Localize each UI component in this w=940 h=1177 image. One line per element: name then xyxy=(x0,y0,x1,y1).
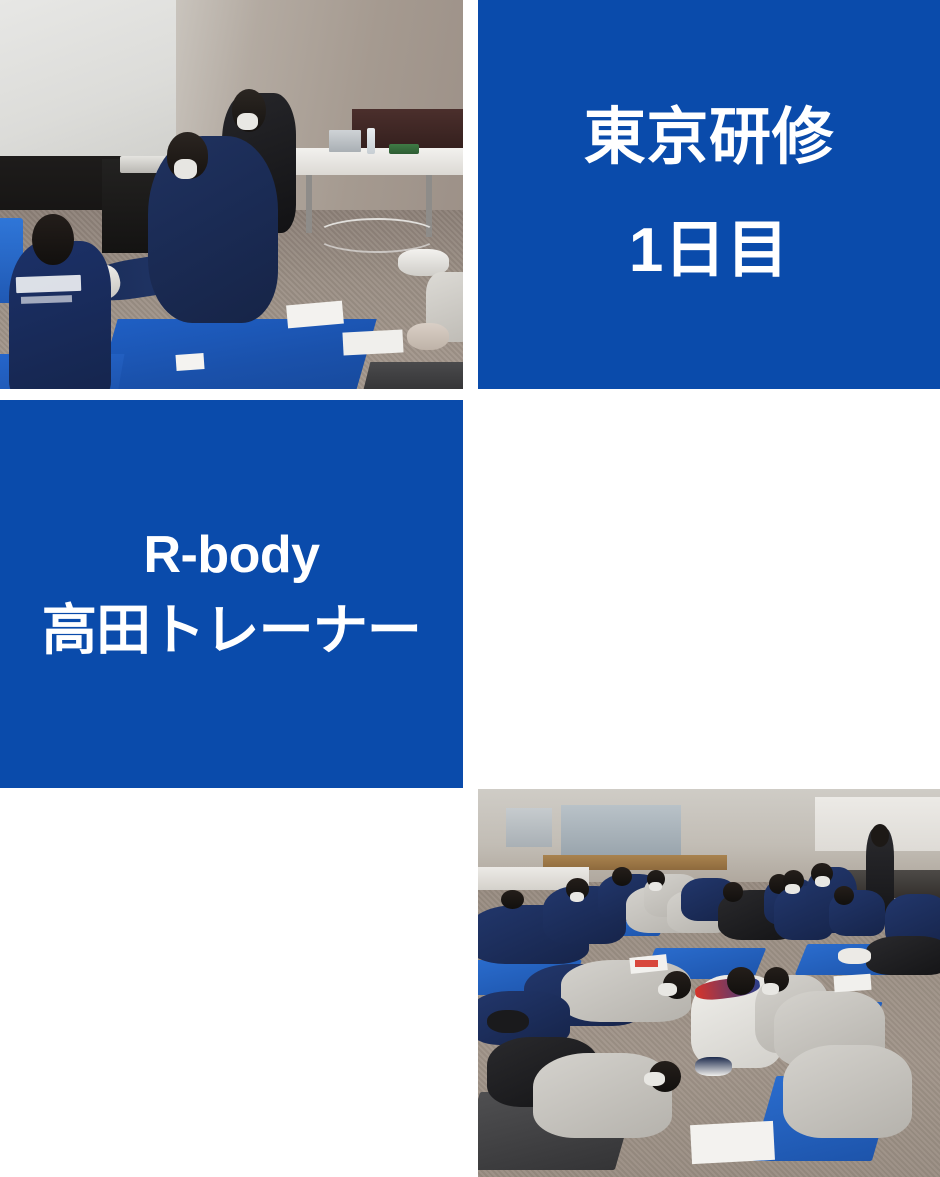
gray-exercise-mat xyxy=(361,362,463,389)
title-panel-rbody-trainer: R-body 高田トレーナー xyxy=(0,400,463,788)
student-arm xyxy=(407,323,449,350)
student-lying xyxy=(866,936,940,975)
floor-cable xyxy=(315,218,439,253)
panel-title-line2: 1日目 xyxy=(629,218,789,285)
title-panel-tokyo-training: 東京研修 1日目 xyxy=(478,0,940,389)
face-mask xyxy=(237,113,258,131)
student-head xyxy=(612,867,632,886)
shoe xyxy=(695,1057,732,1076)
student-head xyxy=(723,882,743,901)
face-mask xyxy=(762,983,779,995)
face-mask xyxy=(649,882,662,891)
paper-sheet xyxy=(342,329,403,355)
projection-screen xyxy=(0,0,176,171)
photo-bottom-right xyxy=(478,789,940,1177)
laptop-icon xyxy=(329,130,361,151)
jacket-team-name xyxy=(16,275,81,293)
shoe xyxy=(487,1010,529,1033)
face-mask xyxy=(785,884,800,894)
table-leg xyxy=(306,175,312,233)
student-lying xyxy=(533,1053,672,1138)
student-head xyxy=(32,214,74,265)
face-mask xyxy=(658,983,676,996)
blue-exercise-mat xyxy=(95,319,378,389)
window xyxy=(506,808,552,847)
face-mask xyxy=(174,159,197,178)
face-mask xyxy=(570,892,584,902)
photo-top-left xyxy=(0,0,463,389)
handout-sheet xyxy=(690,1121,775,1164)
student-lying xyxy=(783,1045,912,1138)
paper-sheet xyxy=(833,974,871,992)
water-bottle xyxy=(367,128,374,153)
green-box xyxy=(389,144,419,154)
shoe xyxy=(838,948,870,964)
panel-brand-rbody: R-body xyxy=(144,527,320,583)
face-mask xyxy=(644,1072,665,1086)
jacket-subtitle xyxy=(21,295,72,304)
paper-sheet xyxy=(175,353,204,370)
photo-collage: 東京研修 1日目 R-body 高田トレーナー xyxy=(0,0,940,788)
panel-trainer-name: 高田トレーナー xyxy=(42,601,421,660)
horizontal-divider xyxy=(0,389,940,400)
panel-title-line1: 東京研修 xyxy=(584,105,834,172)
window xyxy=(561,805,681,855)
trainer-head xyxy=(727,967,755,994)
red-marker xyxy=(635,960,658,968)
face-mask xyxy=(815,876,830,887)
